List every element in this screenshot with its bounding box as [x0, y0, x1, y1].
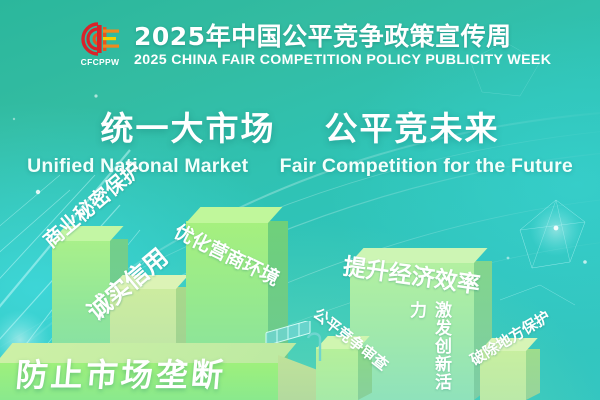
logo-abbr: CFCPPW: [76, 57, 124, 67]
cfcppw-arc-logo-icon: [76, 20, 124, 58]
logo: CFCPPW: [76, 20, 124, 72]
slogan-cn-part1: 统一大市场: [101, 109, 276, 148]
podium-label: 防止市场垄断: [14, 350, 228, 396]
title-en: 2025 CHINA FAIR COMPETITION POLICY PUBLI…: [134, 53, 551, 69]
slogan-cn-part2: 公平竞未来: [325, 109, 500, 148]
city-blocks: 商业秘密保护 诚实信用 优化营商环境 提升经济效率 公平竞争审查: [0, 195, 600, 400]
slogan-en-part2: Fair Competition for the Future: [280, 155, 573, 177]
slogan-cn: 统一大市场 公平竞未来: [0, 102, 600, 150]
block-label-innovation-vitality: 激发创新活力: [404, 301, 454, 400]
street-lamp-icon: [308, 334, 320, 361]
title-cn: 2025年中国公平竞争政策宣传周: [134, 24, 551, 51]
slogan-en: Unified National Market Fair Competition…: [0, 155, 600, 178]
solar-panel-icon: [266, 321, 310, 346]
header: CFCPPW 2025年中国公平竞争政策宣传周 2025 CHINA FAIR …: [76, 20, 551, 72]
header-titles: 2025年中国公平竞争政策宣传周 2025 CHINA FAIR COMPETI…: [134, 23, 551, 69]
poster-canvas: CFCPPW 2025年中国公平竞争政策宣传周 2025 CHINA FAIR …: [0, 0, 600, 400]
